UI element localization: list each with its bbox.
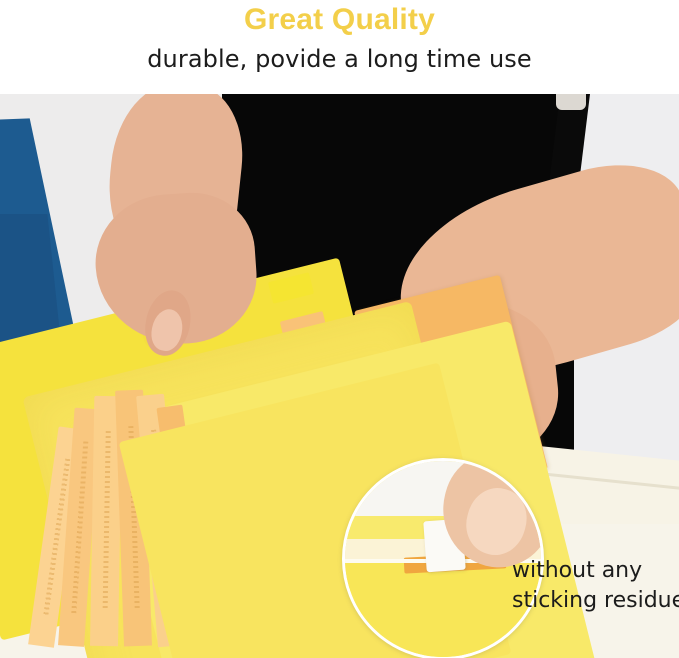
subheadline: durable, povide a long time use — [0, 45, 679, 73]
product-feature-image: Great Quality durable, povide a long tim… — [0, 0, 679, 658]
header-text-band: Great Quality durable, povide a long tim… — [0, 0, 679, 94]
caption-line-2: sticking residue — [512, 586, 679, 616]
pleat-texture — [71, 442, 88, 613]
pleat-texture — [103, 431, 111, 611]
headline: Great Quality — [0, 3, 679, 37]
shirt-collar — [556, 94, 586, 110]
caption-line-1: without any — [512, 556, 679, 586]
inset-caption: without any sticking residue — [512, 556, 679, 616]
